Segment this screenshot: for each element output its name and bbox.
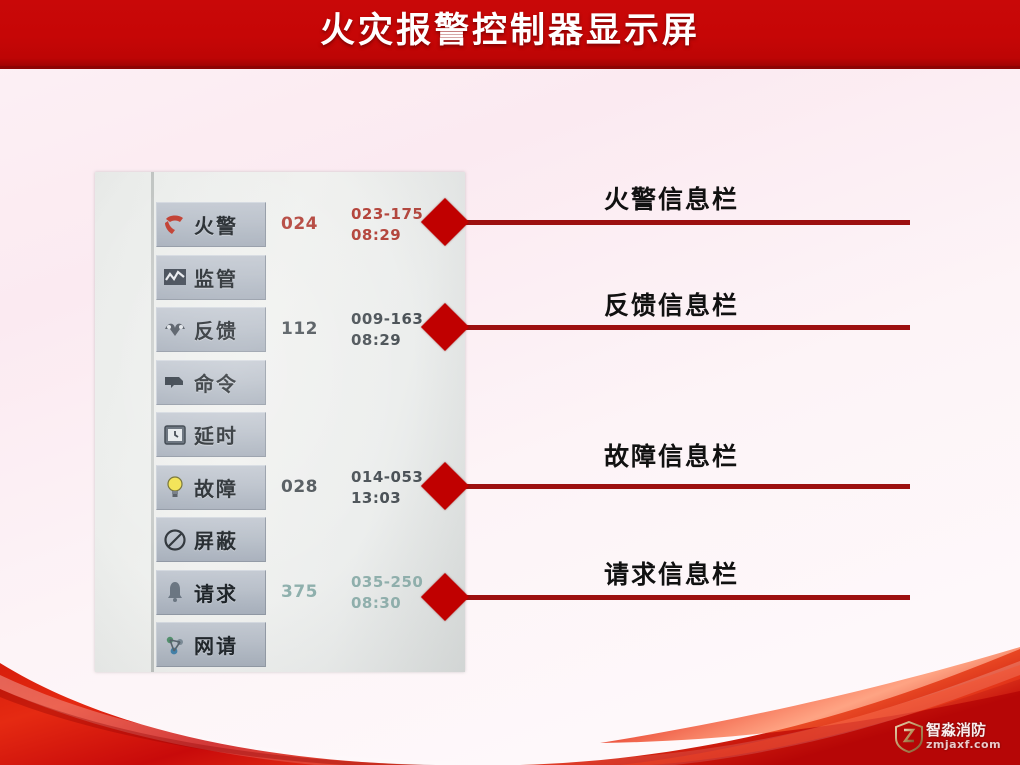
panel-button-反馈[interactable]: 反馈	[156, 307, 266, 352]
panel-row: 反馈112009-16308:29	[95, 305, 465, 357]
callout-connector-line	[455, 325, 910, 330]
panel-button-label: 反馈	[194, 315, 238, 344]
callout-label: 火警信息栏	[604, 180, 739, 216]
panel-button-label: 故障	[194, 473, 238, 502]
panel-button-label: 火警	[194, 210, 238, 239]
panel-button-label: 延时	[194, 420, 238, 449]
watermark: 智淼消防 zmjaxf.com	[894, 717, 1012, 757]
bottom-ribbon-decoration	[0, 645, 1020, 765]
panel-row-count: 028	[281, 477, 337, 497]
lightbulb-icon	[160, 472, 190, 502]
panel-row: 火警024023-17508:29	[95, 200, 465, 252]
callout-connector-line	[455, 220, 910, 225]
panel-button-label: 命令	[194, 368, 238, 397]
waveform-icon	[160, 262, 190, 292]
callout-connector-line	[455, 595, 910, 600]
watermark-logo-icon	[894, 721, 924, 753]
panel-button-延时[interactable]: 延时	[156, 412, 266, 457]
page-title: 火灾报警控制器显示屏	[0, 7, 1020, 55]
bell-request-icon	[160, 577, 190, 607]
clock-delay-icon	[160, 420, 190, 450]
panel-row-count: 112	[281, 319, 337, 339]
panel-row: 命令	[95, 358, 465, 410]
feedback-arrows-icon	[160, 315, 190, 345]
hand-pointer-icon	[160, 367, 190, 397]
header-banner: 火灾报警控制器显示屏	[0, 0, 1020, 69]
callout-connector-line	[455, 484, 910, 489]
watermark-company-name: 智淼消防	[926, 723, 1001, 739]
panel-row-count: 375	[281, 582, 337, 602]
panel-button-屏蔽[interactable]: 屏蔽	[156, 517, 266, 562]
panel-button-label: 监管	[194, 263, 238, 292]
no-entry-icon	[160, 525, 190, 555]
panel-row: 监管	[95, 253, 465, 305]
phone-receiver-icon	[160, 210, 190, 240]
panel-row: 屏蔽	[95, 515, 465, 567]
panel-button-故障[interactable]: 故障	[156, 465, 266, 510]
panel-button-火警[interactable]: 火警	[156, 202, 266, 247]
slide-root: 火灾报警控制器显示屏 火警024023-17508:29监管反馈112009-1…	[0, 0, 1020, 765]
panel-row-count: 024	[281, 214, 337, 234]
panel-button-命令[interactable]: 命令	[156, 360, 266, 405]
watermark-text: 智淼消防 zmjaxf.com	[926, 723, 1001, 750]
fire-panel-photo: 火警024023-17508:29监管反馈112009-16308:29命令延时…	[95, 172, 465, 672]
callout-label: 反馈信息栏	[604, 286, 739, 322]
panel-button-label: 请求	[194, 578, 238, 607]
panel-button-监管[interactable]: 监管	[156, 255, 266, 300]
panel-row: 故障028014-05313:03	[95, 463, 465, 515]
callout-label: 请求信息栏	[604, 555, 739, 591]
watermark-url: zmjaxf.com	[926, 739, 1001, 751]
panel-row: 请求375035-25008:30	[95, 568, 465, 620]
panel-row: 延时	[95, 410, 465, 462]
callout-label: 故障信息栏	[604, 437, 739, 473]
panel-button-label: 屏蔽	[194, 525, 238, 554]
panel-button-请求[interactable]: 请求	[156, 570, 266, 615]
